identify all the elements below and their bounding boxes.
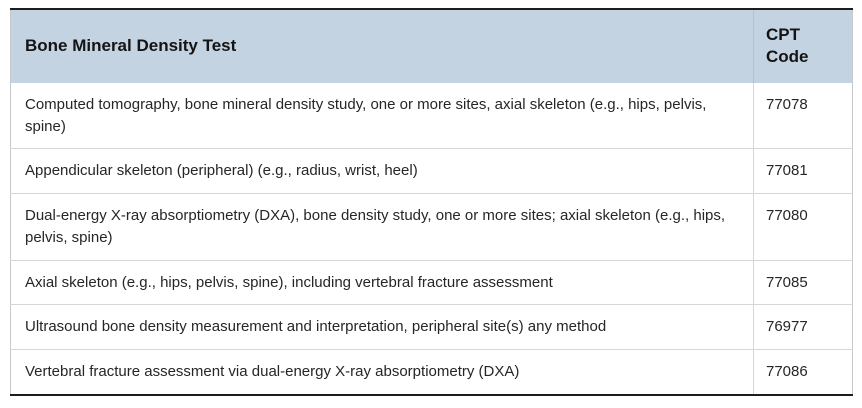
page: Bone Mineral Density Test CPT Code Compu…: [0, 0, 862, 408]
table-body: Computed tomography, bone mineral densit…: [11, 83, 853, 395]
cell-cpt-code: 77078: [754, 83, 853, 149]
cell-test-name: Computed tomography, bone mineral densit…: [11, 83, 754, 149]
column-header-test: Bone Mineral Density Test: [11, 9, 754, 83]
table-header: Bone Mineral Density Test CPT Code: [11, 9, 853, 83]
column-header-cpt-code-line1: CPT: [766, 24, 838, 46]
cell-test-name: Axial skeleton (e.g., hips, pelvis, spin…: [11, 260, 754, 305]
table-row: Dual-energy X-ray absorptiometry (DXA), …: [11, 194, 853, 261]
cell-test-name: Appendicular skeleton (peripheral) (e.g.…: [11, 149, 754, 194]
column-header-cpt-code: CPT Code: [754, 9, 853, 83]
cell-cpt-code: 77086: [754, 350, 853, 395]
table-header-row: Bone Mineral Density Test CPT Code: [11, 9, 853, 83]
table-row: Computed tomography, bone mineral densit…: [11, 83, 853, 149]
cell-cpt-code: 77080: [754, 194, 853, 261]
cell-cpt-code: 77085: [754, 260, 853, 305]
table-row: Ultrasound bone density measurement and …: [11, 305, 853, 350]
table-row: Axial skeleton (e.g., hips, pelvis, spin…: [11, 260, 853, 305]
bone-mineral-density-cpt-table: Bone Mineral Density Test CPT Code Compu…: [10, 8, 853, 396]
cell-test-name: Dual-energy X-ray absorptiometry (DXA), …: [11, 194, 754, 261]
cell-test-name: Ultrasound bone density measurement and …: [11, 305, 754, 350]
table-row: Appendicular skeleton (peripheral) (e.g.…: [11, 149, 853, 194]
column-header-cpt-code-line2: Code: [766, 46, 838, 68]
cell-cpt-code: 76977: [754, 305, 853, 350]
table-row: Vertebral fracture assessment via dual-e…: [11, 350, 853, 395]
cpt-code-table-container: Bone Mineral Density Test CPT Code Compu…: [10, 8, 852, 396]
cell-cpt-code: 77081: [754, 149, 853, 194]
cell-test-name: Vertebral fracture assessment via dual-e…: [11, 350, 754, 395]
